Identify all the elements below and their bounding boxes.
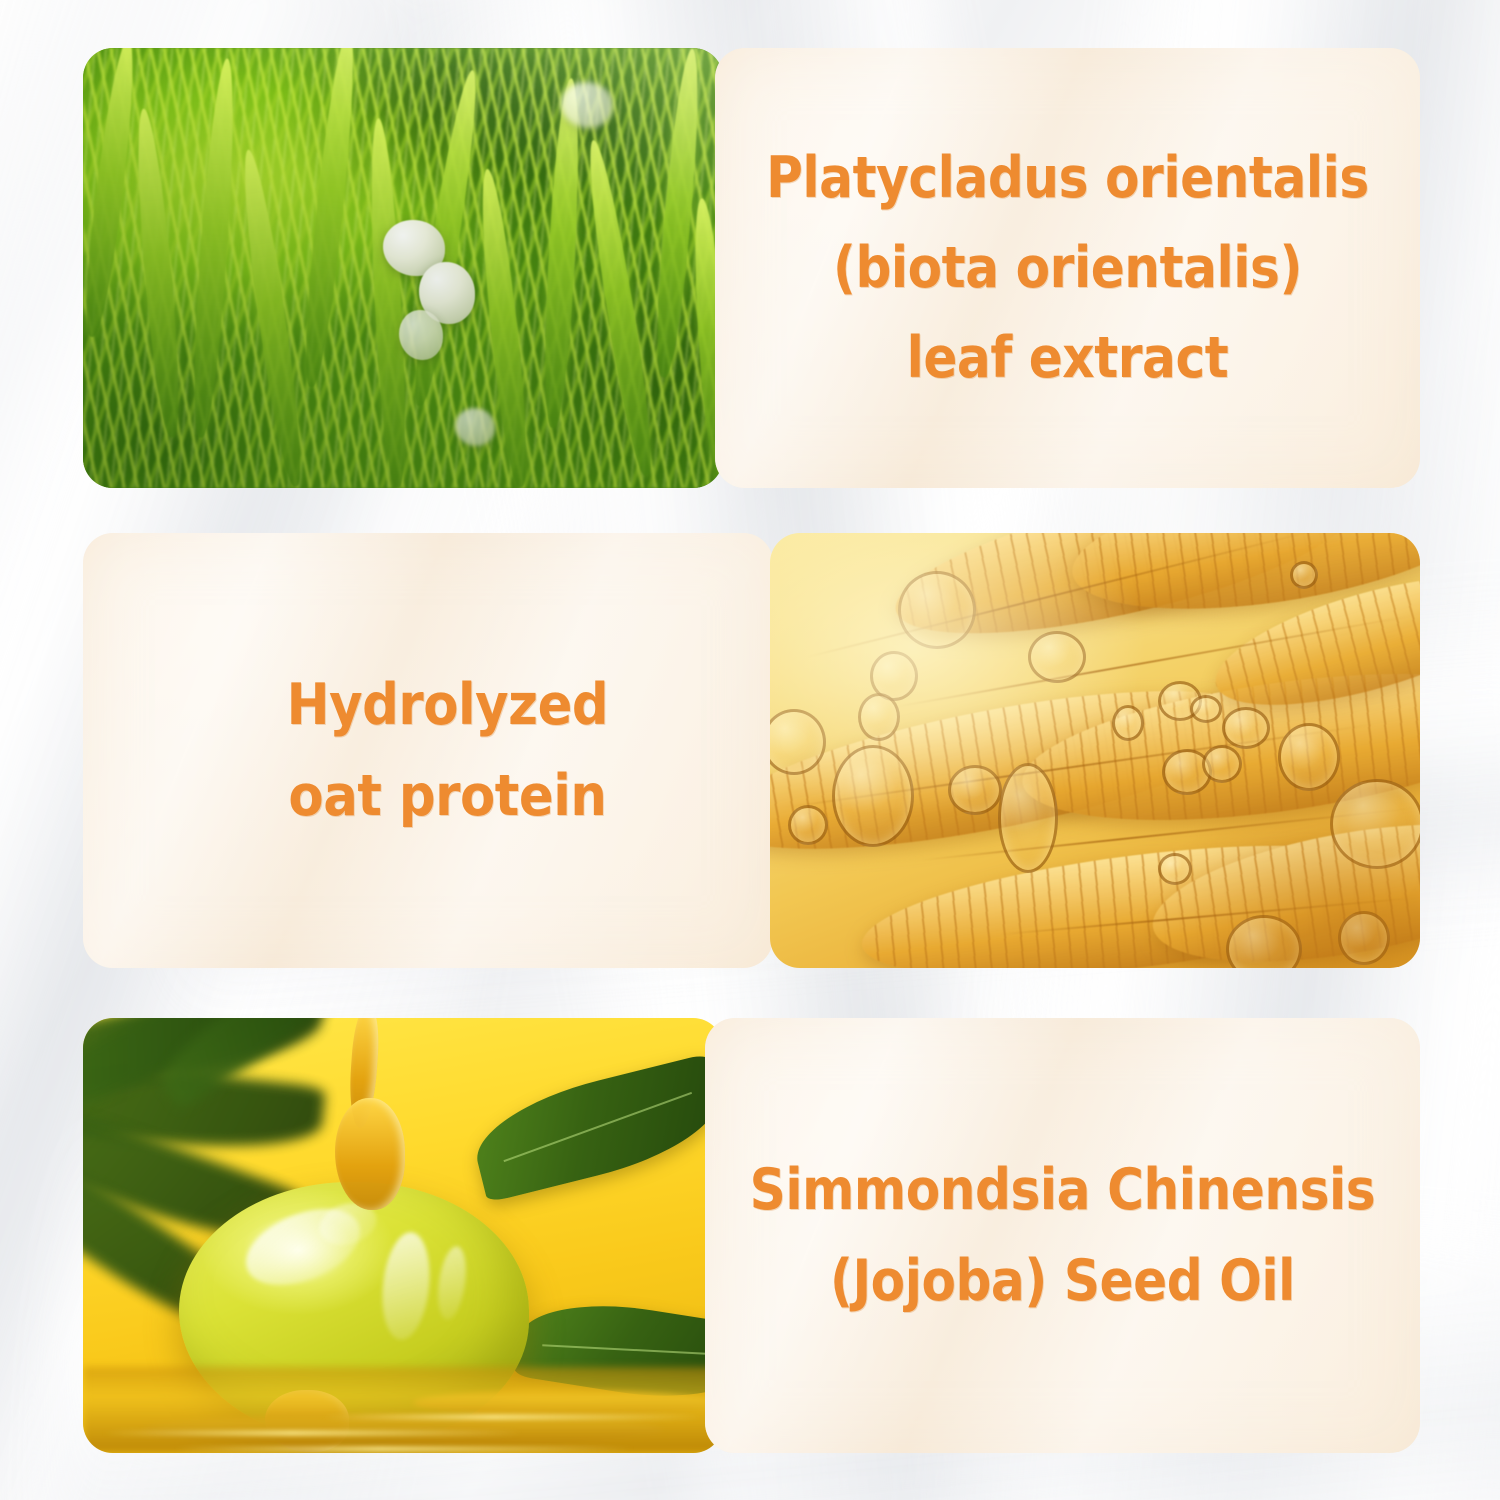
ingredient-title-2: Hydrolyzed oat protein — [287, 660, 609, 840]
golden-oat-ears-photo — [770, 533, 1420, 968]
ingredient-text-panel-1: Platycladus orientalis (biota orientalis… — [715, 48, 1420, 488]
ingredient-text-panel-2: Hydrolyzed oat protein — [83, 533, 773, 968]
conifer-foliage-photo — [83, 48, 723, 488]
ingredient-title-3: Simmondsia Chinensis (Jojoba) Seed Oil — [750, 1145, 1376, 1325]
wheat-light-layer — [770, 533, 1420, 968]
jojoba-seed-oil-photo — [83, 1018, 723, 1453]
ingredient-text-panel-3: Simmondsia Chinensis (Jojoba) Seed Oil — [705, 1018, 1420, 1453]
ingredient-title-1: Platycladus orientalis (biota orientalis… — [766, 133, 1369, 403]
conifer-shading-layer — [83, 48, 723, 488]
jojoba-oil-reflection — [83, 1367, 723, 1453]
ingredient-infographic: Platycladus orientalis (biota orientalis… — [0, 0, 1500, 1500]
